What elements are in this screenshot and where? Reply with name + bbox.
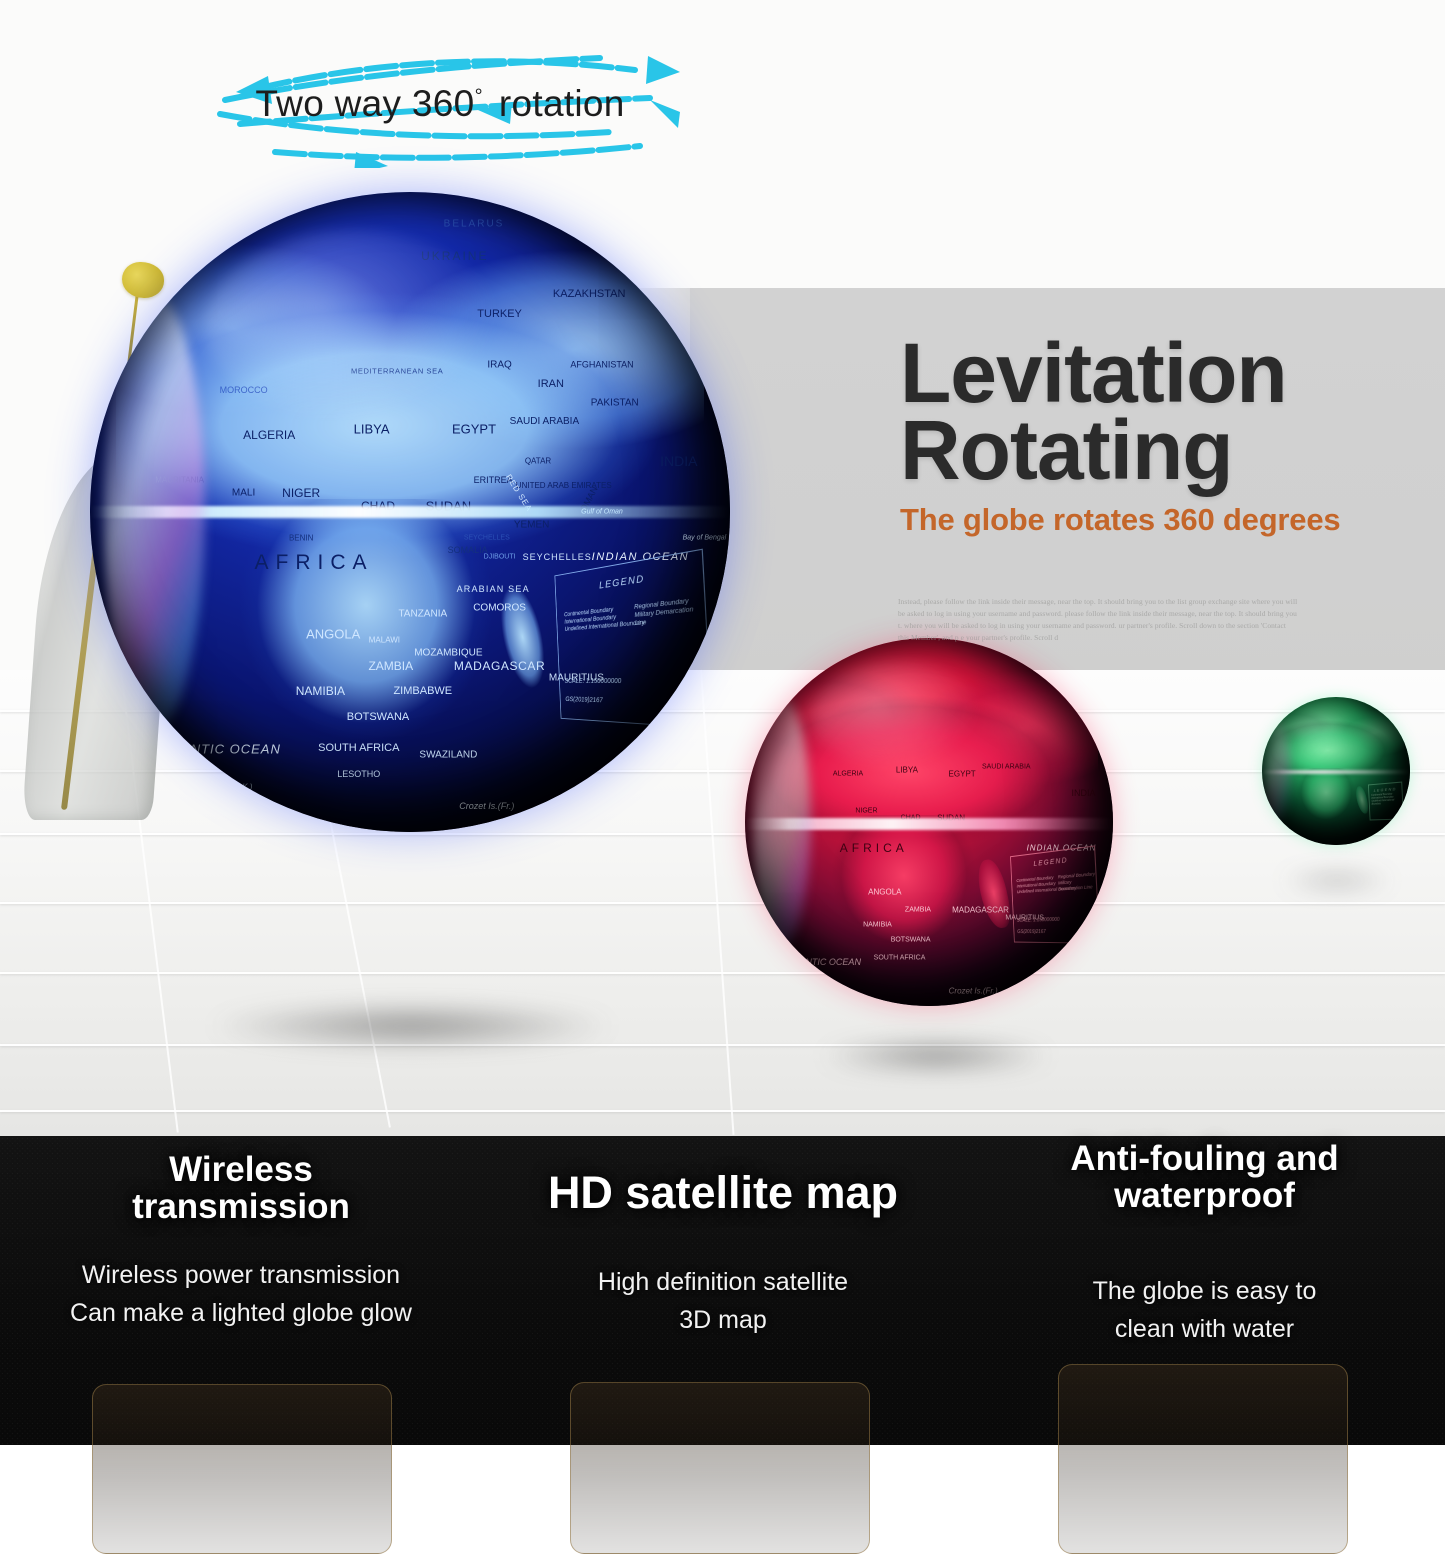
background-filler-text: Instead, please follow the link inside t… — [898, 596, 1298, 644]
floor-grout-line — [0, 833, 1445, 835]
banner-label: Two way 360°rotation — [180, 83, 700, 125]
feature-desc-line-2: 3D map — [679, 1306, 767, 1334]
feature-title: Anti-fouling and waterproof — [964, 1140, 1445, 1214]
feature-strip: Wireless transmission Wireless power tra… — [0, 1136, 1445, 1445]
globe-shading — [745, 638, 1113, 1006]
feature-column-waterproof: Anti-fouling and waterproof The globe is… — [964, 1136, 1445, 1445]
feature-description: Wireless power transmission Can make a l… — [0, 1256, 482, 1332]
feature-desc-line-2: clean with water — [1115, 1315, 1294, 1343]
feature-column-hd-map: HD satellite map High definition satelli… — [482, 1136, 964, 1445]
feature-desc-line-1: Wireless power transmission — [82, 1261, 400, 1289]
red-globe[interactable]: AFRICA EGYPT LIBYA ALGERIA NIGER CHAD SU… — [745, 638, 1113, 1006]
headline-subtitle: The globe rotates 360 degrees — [900, 502, 1420, 538]
feature-title-line-1: Wireless — [169, 1150, 313, 1189]
floor-grout-line — [0, 1110, 1445, 1112]
feature-title: Wireless transmission — [0, 1151, 482, 1225]
globe-shading — [90, 192, 730, 832]
degree-symbol: ° — [475, 86, 483, 108]
feature-desc-line-1: High definition satellite — [598, 1268, 848, 1296]
product-photo-scene: Two way 360°rotation AFRICA EGYPT LIBYA … — [0, 0, 1445, 1136]
page-title: Levitation Rotating — [900, 335, 1420, 490]
globe-shading — [1262, 697, 1410, 845]
feature-description: High definition satellite 3D map — [482, 1263, 964, 1339]
feature-description: The globe is easy to clean with water — [964, 1272, 1445, 1348]
feature-title-line-1: Anti-fouling and — [1070, 1139, 1338, 1178]
feature-column-wireless: Wireless transmission Wireless power tra… — [0, 1136, 482, 1445]
feature-title-line-2: transmission — [132, 1187, 350, 1226]
green-globe-shadow — [1281, 872, 1393, 889]
feature-desc-line-1: The globe is easy to — [1093, 1277, 1317, 1305]
banner-text-before: Two way 360 — [255, 83, 474, 124]
feature-title: HD satellite map — [482, 1169, 964, 1217]
feature-outline-box — [570, 1382, 870, 1554]
blue-globe-shadow — [212, 1003, 612, 1049]
feature-outline-box — [1058, 1364, 1348, 1554]
floor-grout-line — [0, 1044, 1445, 1046]
main-blue-globe[interactable]: AFRICA EGYPT LIBYA ALGERIA MOROCCO NIGER… — [90, 192, 730, 832]
feature-title-line-1: HD satellite map — [548, 1167, 898, 1218]
headline-line-2: Rotating — [900, 412, 1420, 489]
label-island-st-paul: St.Paul Is.(Fr.) — [634, 783, 685, 792]
feature-desc-line-2: Can make a lighted globe glow — [70, 1299, 412, 1327]
label-island-tristan-da-cunha: Tristan da Cunha(U.K.) — [171, 783, 253, 792]
banner-text-after: rotation — [499, 83, 625, 124]
floor-grout-line — [0, 902, 1445, 904]
two-way-rotation-banner: Two way 360°rotation — [180, 28, 700, 168]
feature-title-line-2: waterproof — [1114, 1176, 1295, 1215]
headline-block: Levitation Rotating The globe rotates 36… — [900, 335, 1420, 538]
feature-outline-box — [92, 1384, 392, 1554]
red-globe-shadow — [822, 1040, 1050, 1072]
green-globe[interactable]: LEGEND Continental Boundary Internationa… — [1262, 697, 1410, 845]
